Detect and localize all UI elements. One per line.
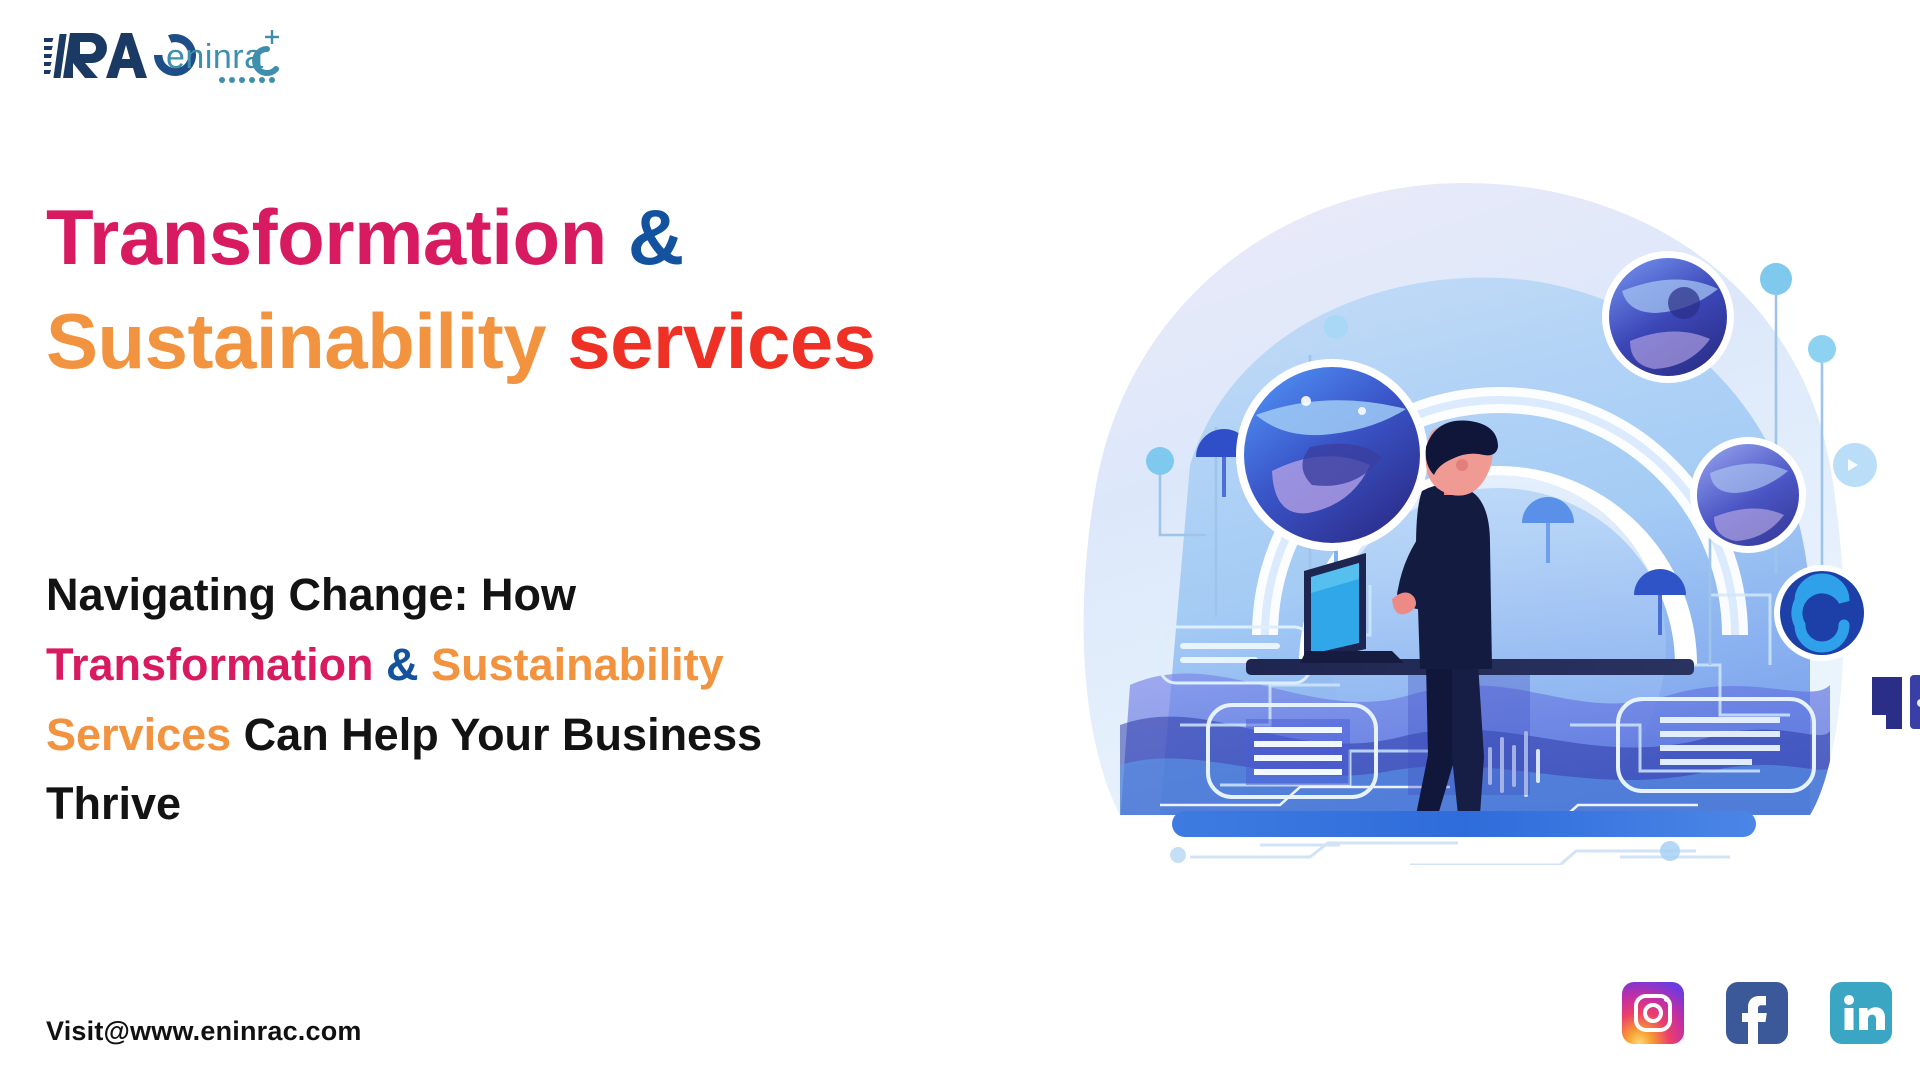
illus-globe-top-right	[1602, 251, 1734, 383]
instagram-dot	[1664, 997, 1669, 1002]
subtitle-seg-navigating: Navigating Change: How	[46, 569, 576, 620]
illus-globe-large	[1236, 359, 1428, 551]
subtitle-seg-ampersand: &	[374, 639, 432, 690]
subtitle-seg-transformation: Transformation	[46, 639, 374, 690]
linkedin-in-glyph	[1830, 982, 1892, 1044]
illus-sync-icon	[1774, 565, 1870, 661]
headline-ampersand: &	[628, 193, 684, 281]
linkedin-icon[interactable]	[1830, 982, 1892, 1044]
poster-canvas: eninra Transformation & Sustainability s…	[0, 0, 1920, 1080]
brand-logo[interactable]: eninra	[44, 24, 304, 86]
illus-globe-mid-right	[1690, 437, 1806, 553]
rac-eninrac-logo-icon: eninra	[44, 24, 304, 86]
visit-url[interactable]: Visit@www.eninrac.com	[46, 1016, 362, 1047]
headline-transformation: Transformation	[46, 193, 607, 281]
headline-line-1: Transformation &	[46, 186, 926, 290]
headline-line-2: Sustainability services	[46, 290, 926, 394]
page-title: Transformation & Sustainability services	[46, 186, 926, 393]
facebook-f-glyph	[1726, 982, 1788, 1044]
digital-transformation-illustration-icon	[1010, 165, 1920, 865]
instagram-icon[interactable]	[1622, 982, 1684, 1044]
social-links	[1622, 982, 1892, 1044]
page-subtitle: Navigating Change: How Transformation & …	[46, 560, 886, 839]
svg-text:eninra: eninra	[166, 38, 264, 76]
facebook-icon[interactable]	[1726, 982, 1788, 1044]
hero-illustration	[1010, 165, 1920, 865]
illus-floor-circuit	[1190, 843, 1730, 865]
illus-building-blocks	[1872, 675, 1920, 729]
headline-sustainability: Sustainability	[46, 297, 546, 385]
headline-services: services	[567, 297, 875, 385]
instagram-lens	[1643, 1003, 1663, 1023]
illus-floor-bar	[1172, 811, 1756, 837]
